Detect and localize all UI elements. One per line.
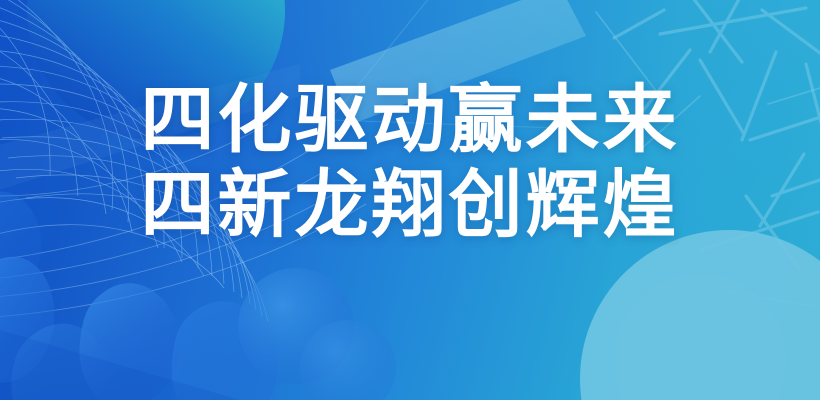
light-wedge — [0, 64, 300, 196]
promotional-banner: 四化驱动赢未来 四新龙翔创辉煌 — [0, 0, 820, 400]
diagonal-ribbon — [330, 0, 586, 124]
